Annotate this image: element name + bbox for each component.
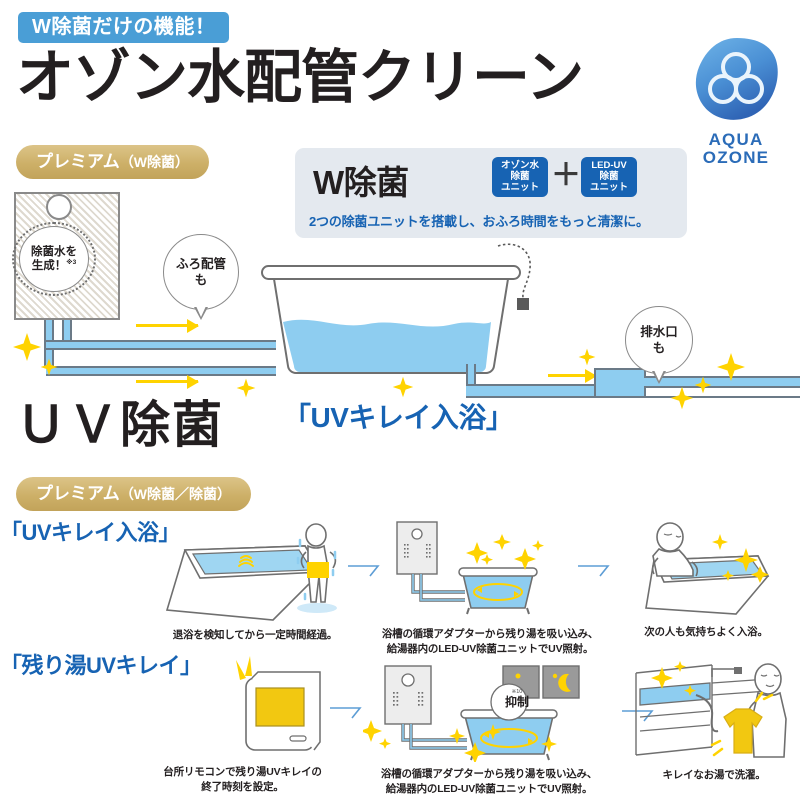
laundry-illustration — [628, 655, 800, 763]
sparkle-icon — [12, 332, 42, 362]
sparkle-icon — [578, 348, 596, 366]
row-1-step-2: 浴槽の循環アダプターから残り湯を吸い込み、 給湯器内のLED-UV除菌ユニットで… — [365, 512, 615, 657]
step-arrow-icon — [578, 563, 612, 579]
premium-badge-main-text: プレミアム — [36, 153, 120, 170]
caption-line: 終了時刻を設定。 — [130, 780, 355, 795]
drain-outlet-bubble: 排水口 も — [625, 306, 693, 374]
heater-callout-circle: 除菌水を 生成！※3 — [19, 226, 89, 292]
caption-line: 浴槽の循環アダプターから残り湯を吸い込み、 — [365, 627, 615, 642]
heater-label-line-1: 除菌水を — [31, 246, 77, 258]
bubble-pipe-line-1: ふろ配管 — [176, 257, 226, 271]
row-2-step-1-caption: 台所リモコンで残り湯UVキレイの 終了時刻を設定。 — [130, 765, 355, 795]
page-title: オゾン水配管クリーン — [16, 48, 583, 109]
flow-arrow-3 — [548, 374, 596, 377]
row-2-step-3: キレイなお湯で洗濯。 — [628, 655, 800, 783]
pipe-edge — [594, 368, 596, 398]
heater-label-line-2: 生成！ — [32, 260, 67, 272]
caption-line: キレイなお湯で洗濯。 — [628, 768, 800, 783]
premium-badge-uv-sub: （W除菌／除菌） — [120, 487, 231, 501]
bubble-pipe-line-2: も — [195, 273, 208, 287]
suppression-badge: ※10 抑制 — [495, 690, 539, 709]
ozone-pipe-clean-diagram: 除菌水を 生成！※3 ふろ配管 も — [0, 180, 800, 410]
kitchen-remote-illustration — [130, 650, 355, 760]
row-1-step-1: 退浴を検知してから一定時間経過。 — [155, 518, 355, 643]
bath-exit-illustration — [155, 518, 355, 623]
drain-pipe-water-left — [466, 386, 596, 396]
person-bathing-illustration — [612, 512, 800, 620]
pipe-edge — [46, 374, 276, 376]
caption-line: 給湯器内のLED-UV除菌ユニットでUV照射。 — [363, 782, 615, 797]
premium-badge-uv: プレミアム（W除菌／除菌） — [16, 477, 251, 511]
sparkle-icon — [694, 376, 712, 394]
suppression-badge-label: 抑制 — [495, 696, 539, 709]
pipe-edge — [594, 368, 646, 370]
pipe-edge — [46, 348, 276, 350]
sparkle-icon — [40, 358, 58, 376]
sparkle-icon — [236, 378, 256, 398]
caption-line: 給湯器内のLED-UV除菌ユニットでUV照射。 — [365, 642, 615, 657]
caption-line: 台所リモコンで残り湯UVキレイの — [130, 765, 355, 780]
bubble-drain-line-1: 排水口 — [640, 325, 678, 339]
row-1-step-3: 次の人も気持ちよく入浴。 — [612, 512, 800, 640]
flow-arrow-2 — [136, 380, 198, 383]
row-2-step-1: 台所リモコンで残り湯UVキレイの 終了時刻を設定。 — [130, 650, 355, 795]
uv-section-title: ＵＶ除菌 — [16, 400, 224, 450]
leduv-badge-line-1: LED-UV — [586, 160, 632, 171]
furo-piping-bubble: ふろ配管 も — [163, 234, 239, 310]
row-1-step-3-caption: 次の人も気持ちよく入浴。 — [612, 625, 800, 640]
uv-clean-bath-label-main: 「UVキレイ入浴」 — [283, 396, 513, 436]
pipe-edge — [70, 320, 72, 342]
night-uv-suppression-illustration — [363, 658, 615, 762]
heater-dial-icon — [46, 194, 72, 220]
caption-line: 退浴を検知してから一定時間経過。 — [155, 628, 355, 643]
drain-plug-chain-icon — [492, 240, 552, 320]
bathtub-illustration — [258, 264, 526, 380]
heater-label-note: ※3 — [66, 259, 76, 266]
aqua-ozone-logo: AQUA OZONE — [686, 36, 786, 168]
header-banner: W除菌だけの機能！ — [18, 12, 229, 43]
step-arrow-icon — [330, 705, 364, 721]
caption-line: 次の人も気持ちよく入浴。 — [612, 625, 800, 640]
row-1-label: 「UVキレイ入浴」 — [0, 515, 180, 547]
ozone-badge-line-1: オゾン水 — [497, 160, 543, 171]
logo-line-2: OZONE — [686, 149, 786, 167]
row-1-step-2-caption: 浴槽の循環アダプターから残り湯を吸い込み、 給湯器内のLED-UV除菌ユニットで… — [365, 627, 615, 657]
premium-badge-uv-text: プレミアム — [36, 485, 120, 502]
flow-arrow-1 — [136, 324, 198, 327]
pipe-edge — [474, 364, 476, 386]
sparkle-icon — [392, 376, 414, 398]
row-2-step-2-caption: 浴槽の循環アダプターから残り湯を吸い込み、 給湯器内のLED-UV除菌ユニットで… — [363, 767, 615, 797]
row-2-step-3-caption: キレイなお湯で洗濯。 — [628, 768, 800, 783]
ozone-blob-icon — [691, 36, 781, 124]
caption-line: 浴槽の循環アダプターから残り湯を吸い込み、 — [363, 767, 615, 782]
pipe-floor-line — [466, 396, 800, 398]
row-1-step-1-caption: 退浴を検知してから一定時間経過。 — [155, 628, 355, 643]
bubble-drain-line-2: も — [653, 341, 666, 355]
logo-line-1: AQUA — [686, 131, 786, 149]
premium-badge-main-sub: （W除菌） — [120, 155, 189, 169]
drain-trap-water — [596, 370, 644, 398]
premium-badge-main: プレミアム（W除菌） — [16, 145, 209, 179]
sparkle-icon — [670, 386, 694, 410]
pipe-edge — [644, 386, 800, 388]
sparkle-icon — [716, 352, 746, 382]
row-2-step-2: ※10 抑制 浴槽の循環アダプターから残り湯を吸い込み、 給湯器内のLED-UV… — [363, 658, 615, 797]
